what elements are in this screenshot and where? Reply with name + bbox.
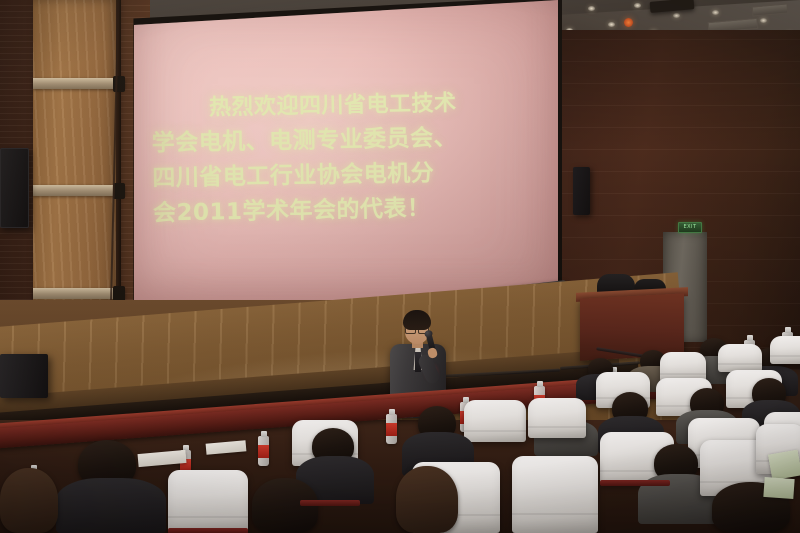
ceiling-downlight-icon: [608, 22, 615, 27]
exit-sign: EXIT: [678, 222, 702, 233]
chair-frame: [168, 528, 248, 533]
water-bottle: [258, 436, 269, 466]
chair-frame: [300, 500, 360, 506]
chair-frame: [600, 480, 670, 486]
chair-cover: [718, 344, 762, 372]
audience-head: [0, 468, 58, 533]
chair-cover: [528, 398, 586, 438]
conference-hall-photo: EXIT 热烈欢迎四川省电工技术 学会电机、电测专业委员会、 四川省电工行业协会…: [0, 0, 800, 533]
ceiling-downlight-icon: [588, 6, 595, 11]
handout-booklet: [763, 477, 794, 499]
ceiling-downlight-icon: [712, 10, 719, 15]
ceiling-downlight-icon: [760, 18, 767, 23]
wall-speaker-left-icon: [0, 148, 29, 228]
exit-sign-label: EXIT: [679, 223, 701, 232]
chair-cover: [770, 336, 800, 364]
panel-metal-strip: [33, 185, 125, 196]
ceiling-indicator-light-icon: [624, 18, 633, 27]
screen-vignette: [134, 0, 558, 312]
audience-head: [396, 466, 458, 533]
handout-booklet: [768, 450, 800, 481]
wall-speaker-right-icon: [573, 167, 590, 215]
ceiling-downlight-icon: [673, 13, 680, 18]
projection-screen: 热烈欢迎四川省电工技术 学会电机、电测专业委员会、 四川省电工行业协会电机分 会…: [134, 0, 558, 312]
chair-cover: [512, 456, 598, 533]
chair-cover: [168, 470, 248, 533]
floor-speaker: [0, 354, 48, 398]
chair-cover: [464, 400, 526, 442]
presenter-hair: [403, 310, 431, 330]
lectern: [580, 293, 684, 360]
water-bottle: [386, 414, 397, 444]
panel-metal-strip: [33, 78, 125, 89]
ceiling-downlight-icon: [634, 3, 641, 8]
audience-shoulders: [56, 478, 166, 533]
